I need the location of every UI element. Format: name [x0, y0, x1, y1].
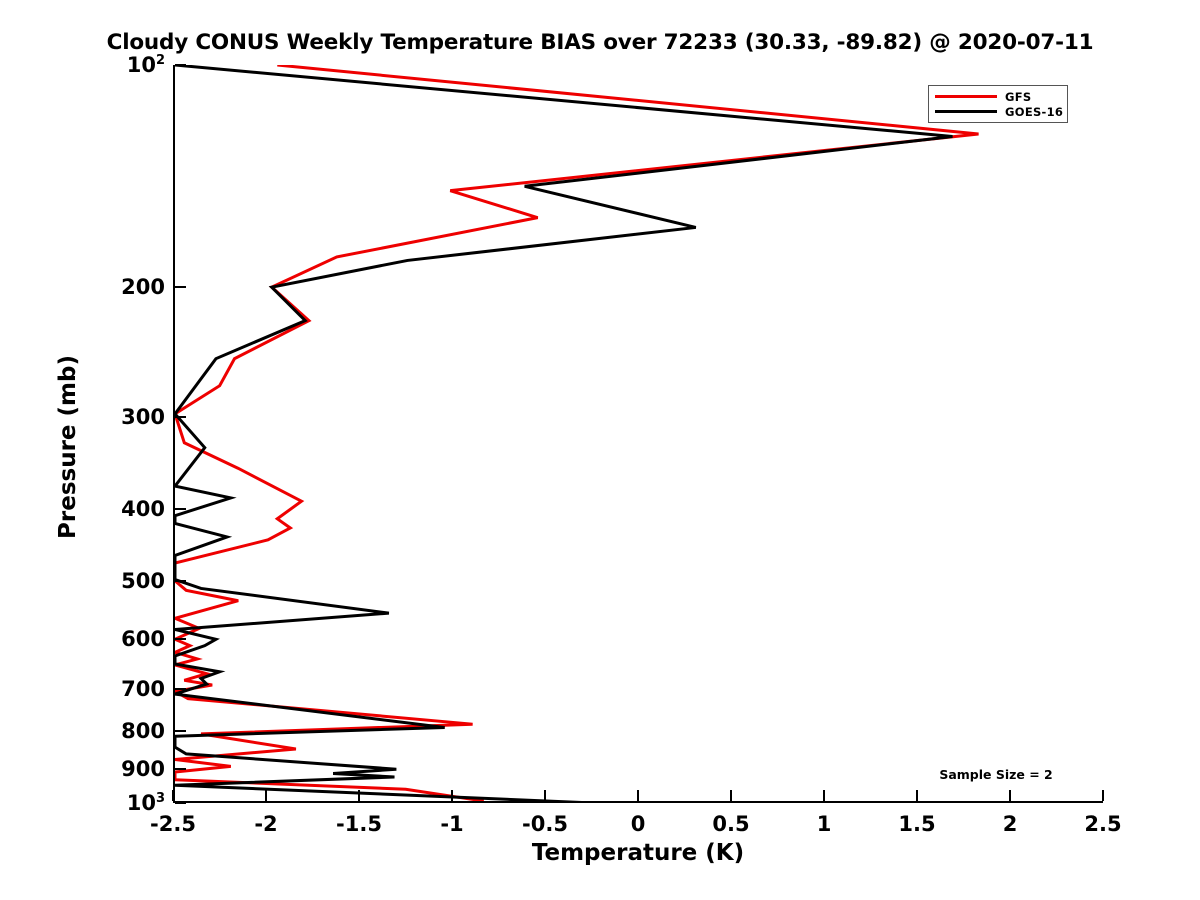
x-tick-mark — [172, 790, 174, 801]
x-tick-mark — [265, 790, 267, 801]
x-tick-label: -1 — [440, 812, 463, 836]
page-title: Cloudy CONUS Weekly Temperature BIAS ove… — [0, 30, 1200, 55]
x-tick-mark — [1009, 790, 1011, 801]
figure-canvas: Cloudy CONUS Weekly Temperature BIAS ove… — [0, 0, 1200, 900]
y-tick-label: 102 — [25, 53, 165, 77]
y-tick-mark — [175, 802, 186, 804]
x-tick-label: -2.5 — [150, 812, 196, 836]
series-line-gfs — [175, 65, 979, 801]
x-tick-label: 2.5 — [1084, 812, 1121, 836]
x-tick-label: 1.5 — [898, 812, 935, 836]
legend[interactable]: GFS GOES-16 — [928, 85, 1068, 123]
x-tick-mark — [730, 790, 732, 801]
y-tick-mark — [175, 416, 186, 418]
legend-label-gfs: GFS — [1005, 90, 1031, 104]
y-tick-mark — [175, 508, 186, 510]
plot-area — [173, 65, 1103, 803]
x-tick-label: -2 — [254, 812, 277, 836]
y-tick-label: 500 — [25, 569, 165, 593]
y-tick-label: 800 — [25, 719, 165, 743]
y-tick-mark — [175, 64, 186, 66]
x-tick-label: 0.5 — [712, 812, 749, 836]
series-line-goes-16 — [175, 65, 952, 803]
y-tick-label: 200 — [25, 275, 165, 299]
x-tick-mark — [823, 790, 825, 801]
x-tick-mark — [637, 790, 639, 801]
x-tick-mark — [916, 790, 918, 801]
legend-entry-goes-16: GOES-16 — [935, 104, 1061, 119]
y-tick-mark — [175, 638, 186, 640]
y-tick-mark — [175, 768, 186, 770]
x-tick-label: -1.5 — [336, 812, 382, 836]
y-tick-label: 700 — [25, 677, 165, 701]
x-tick-mark — [451, 790, 453, 801]
legend-entry-gfs: GFS — [935, 89, 1061, 104]
y-tick-mark — [175, 730, 186, 732]
y-tick-mark — [175, 688, 186, 690]
legend-swatch-gfs — [935, 95, 997, 98]
y-tick-label: 600 — [25, 627, 165, 651]
data-lines — [175, 65, 1103, 803]
y-tick-mark — [175, 286, 186, 288]
legend-swatch-goes-16 — [935, 110, 997, 113]
x-tick-mark — [358, 790, 360, 801]
x-tick-label: 0 — [631, 812, 646, 836]
y-tick-label: 103 — [25, 791, 165, 815]
x-tick-mark — [544, 790, 546, 801]
x-tick-label: 1 — [817, 812, 832, 836]
x-tick-label: -0.5 — [522, 812, 568, 836]
y-tick-mark — [175, 580, 186, 582]
y-axis-label: Pressure (mb) — [55, 317, 81, 577]
y-tick-label: 900 — [25, 757, 165, 781]
x-tick-mark — [1102, 790, 1104, 801]
legend-label-goes-16: GOES-16 — [1005, 105, 1063, 119]
y-tick-label: 300 — [25, 405, 165, 429]
x-axis-label: Temperature (K) — [173, 840, 1103, 866]
x-tick-label: 2 — [1003, 812, 1018, 836]
sample-size-annotation: Sample Size = 2 — [939, 767, 1052, 782]
y-tick-label: 400 — [25, 497, 165, 521]
